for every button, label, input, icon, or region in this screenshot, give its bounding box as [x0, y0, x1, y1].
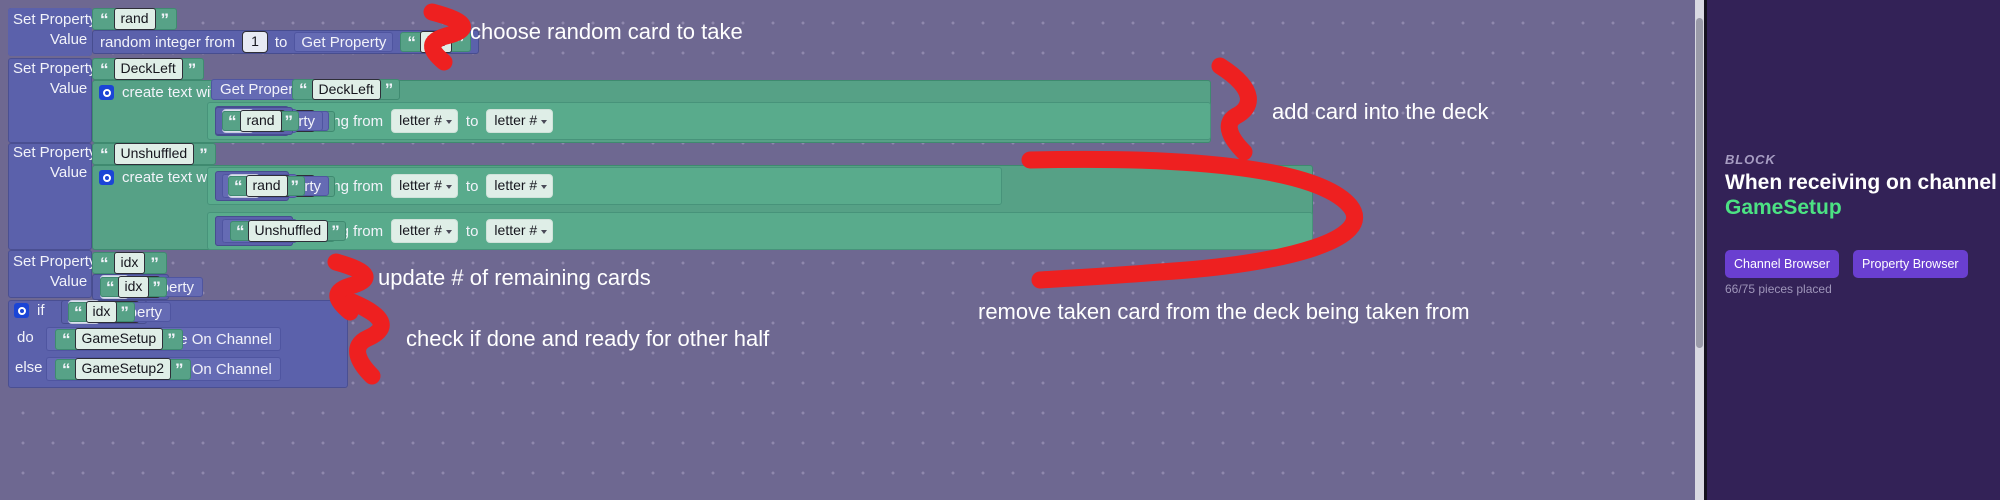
quote-open-icon: “: [299, 81, 308, 98]
text-field-gamesetup[interactable]: GameSetup: [75, 328, 164, 349]
value-label: Value: [50, 165, 87, 180]
create-text-with-header-2[interactable]: create text with: [99, 170, 223, 185]
text-block-idx-var[interactable]: “ idx ”: [92, 252, 167, 274]
chevron-down-icon: [541, 185, 547, 189]
text-block-idx[interactable]: “ idx ”: [68, 302, 135, 322]
substring-row-unshuffled-a-content[interactable]: in text Get Property “ Unshuffled ” get …: [215, 169, 553, 203]
text-field-deckleft-value[interactable]: DeckLeft: [312, 79, 381, 100]
quote-open-icon: “: [62, 331, 71, 348]
quote-open-icon: “: [407, 34, 416, 51]
letter-hash-dropdown-2[interactable]: letter #: [486, 219, 553, 242]
letter-hash-label: letter #: [494, 112, 537, 128]
text-field-rand[interactable]: rand: [240, 110, 282, 131]
letter-hash-label: letter #: [399, 112, 442, 128]
channel-browser-button[interactable]: Channel Browser: [1725, 250, 1839, 278]
quote-close-icon: ”: [456, 34, 465, 51]
text-block-rand-2[interactable]: “ rand ”: [222, 111, 299, 131]
text-field-deckleft[interactable]: DeckLeft: [114, 58, 183, 79]
annotation-label-1: choose random card to take: [470, 19, 743, 45]
quote-close-icon: ”: [188, 61, 197, 78]
letter-hash-dropdown-2[interactable]: letter #: [486, 174, 553, 197]
chevron-down-icon: [446, 185, 452, 189]
set-property-label: Set Property: [13, 254, 96, 269]
else-label: else: [15, 360, 43, 375]
random-integer-from-label: random integer from: [100, 35, 235, 50]
letter-hash-dropdown[interactable]: letter #: [391, 109, 458, 132]
letter-hash-dropdown[interactable]: letter #: [391, 174, 458, 197]
workspace-scrollbar-thumb[interactable]: [1696, 18, 1703, 348]
text-field-idx[interactable]: idx: [118, 276, 150, 297]
quote-open-icon: “: [100, 11, 109, 28]
sidebar-kicker: BLOCK: [1725, 152, 1776, 167]
letter-hash-label: letter #: [399, 177, 442, 193]
quote-open-icon: “: [100, 255, 109, 272]
to-label: to: [466, 179, 479, 194]
quote-close-icon: ”: [285, 113, 294, 130]
create-text-with-header[interactable]: create text with: [99, 85, 223, 100]
quote-open-icon: “: [100, 146, 109, 163]
value-label: Value: [50, 32, 87, 47]
chevron-down-icon: [446, 230, 452, 234]
quote-close-icon: ”: [175, 361, 184, 378]
get-property-block[interactable]: Get Property: [294, 32, 393, 52]
if-label: if: [37, 303, 45, 318]
text-field-unshuffled-var[interactable]: Unshuffled: [114, 143, 195, 164]
quote-close-icon: ”: [291, 178, 300, 195]
value-label: Value: [50, 274, 87, 289]
block-info-sidebar: BLOCK When receiving on channel GameSetu…: [1704, 0, 2000, 500]
annotation-label-2: add card into the deck: [1272, 99, 1488, 125]
quote-close-icon: ”: [152, 279, 161, 296]
text-field-unshuffled-2[interactable]: Unshuffled: [248, 220, 329, 241]
chevron-down-icon: [446, 120, 452, 124]
quote-close-icon: ”: [167, 331, 176, 348]
letter-hash-label: letter #: [494, 177, 537, 193]
quote-close-icon: ”: [120, 304, 129, 321]
quote-open-icon: “: [74, 304, 83, 321]
text-block-deckleft-value[interactable]: “ DeckLeft ”: [292, 79, 400, 100]
get-property-label: Get Property: [301, 35, 386, 50]
to-label: to: [275, 35, 288, 50]
quote-open-icon: “: [236, 223, 245, 240]
math-multiply-block[interactable]: Get Property “ rand ” × 2: [222, 174, 297, 198]
workspace-scrollbar[interactable]: [1695, 0, 1704, 500]
quote-close-icon: ”: [161, 11, 170, 28]
substring-row-deckleft-content[interactable]: in text Get Property “ Unshuffled ” get …: [215, 104, 553, 138]
text-field-rand[interactable]: rand: [246, 175, 288, 196]
to-label: to: [466, 114, 479, 129]
set-property-label: Set Property: [13, 145, 96, 160]
number-field-from[interactable]: 1: [242, 31, 268, 52]
text-block-unshuffled-2[interactable]: “ Unshuffled ”: [230, 221, 346, 241]
blocks-workspace[interactable]: Set Property Value “ rand ” random integ…: [0, 0, 1704, 500]
text-field-rand[interactable]: rand: [114, 8, 156, 29]
set-property-label: Set Property: [13, 61, 96, 76]
quote-close-icon: ”: [150, 255, 159, 272]
property-browser-button[interactable]: Property Browser: [1853, 250, 1968, 278]
math-minus-block-idx[interactable]: Get Property “ idx ” - 1: [92, 274, 169, 300]
quote-close-icon: ”: [331, 223, 340, 240]
gear-icon[interactable]: [99, 170, 114, 185]
comparison-block[interactable]: Get Property “ idx ” > 26: [61, 300, 147, 324]
random-integer-block[interactable]: random integer from 1 to Get Property “ …: [92, 30, 479, 54]
sidebar-block-title: When receiving on channel: [1725, 170, 2000, 197]
app-root: Set Property Value “ rand ” random integ…: [0, 0, 2000, 500]
math-plus-block-2[interactable]: length of Get Property “ Unshuffled ” + …: [215, 216, 293, 246]
quote-open-icon: “: [62, 361, 71, 378]
text-field-idx[interactable]: idx: [86, 301, 118, 322]
annotation-label-5: remove taken card from the deck being ta…: [978, 299, 1470, 325]
text-block-idx[interactable]: “ idx ”: [100, 277, 167, 297]
value-label: Value: [50, 81, 87, 96]
create-text-with-label: create text with: [122, 85, 223, 100]
annotation-overlay: [0, 0, 1704, 500]
broadcast-message-block[interactable]: Broadcast Message On Channel “ GameSetup…: [46, 327, 281, 351]
quote-open-icon: “: [106, 279, 115, 296]
gear-icon[interactable]: [99, 85, 114, 100]
substring-row-unshuffled-b-content[interactable]: in text Get Property “ Unshuffled ” get …: [215, 214, 553, 248]
if-header[interactable]: if: [14, 303, 45, 318]
text-block-deckleft[interactable]: “ DeckLeft ”: [92, 58, 204, 80]
text-block-gamesetup[interactable]: “ GameSetup ”: [55, 329, 183, 350]
quote-close-icon: ”: [385, 81, 394, 98]
letter-hash-dropdown-2[interactable]: letter #: [486, 109, 553, 132]
sidebar-block-name: GameSetup: [1725, 196, 1842, 220]
annotation-label-4: check if done and ready for other half: [406, 326, 769, 352]
quote-open-icon: “: [100, 61, 109, 78]
quote-open-icon: “: [228, 113, 237, 130]
chevron-down-icon: [541, 230, 547, 234]
letter-hash-label: letter #: [399, 222, 442, 238]
annotation-stroke-5: [352, 302, 381, 376]
to-label: to: [466, 224, 479, 239]
annotation-label-3: update # of remaining cards: [378, 265, 651, 291]
text-field-idx-var[interactable]: idx: [114, 252, 146, 273]
math-minus-block[interactable]: Get Property “ rand ” × 2 - 2: [215, 171, 289, 201]
text-block-gamesetup2[interactable]: “ GameSetup2 ”: [55, 359, 191, 380]
chevron-down-icon: [541, 120, 547, 124]
pieces-placed-status: 66/75 pieces placed: [1725, 282, 1832, 296]
quote-close-icon: ”: [199, 146, 208, 163]
text-field-gamesetup2[interactable]: GameSetup2: [75, 358, 172, 379]
broadcast-message-block-2[interactable]: Broadcast Message On Channel “ GameSetup…: [46, 357, 281, 381]
text-block-idx[interactable]: “ idx ”: [400, 32, 471, 52]
letter-hash-dropdown[interactable]: letter #: [391, 219, 458, 242]
quote-open-icon: “: [234, 178, 243, 195]
text-block-rand[interactable]: “ rand ”: [92, 8, 177, 30]
annotation-stroke-2: [1220, 66, 1248, 152]
letter-hash-label: letter #: [494, 222, 537, 238]
math-multiply-block-2[interactable]: Get Property “ rand ” × 2: [215, 107, 293, 135]
text-block-rand[interactable]: “ rand ”: [228, 176, 305, 196]
do-label: do: [17, 330, 34, 345]
gear-icon[interactable]: [14, 303, 29, 318]
text-field-idx[interactable]: idx: [420, 31, 452, 52]
text-block-unshuffled-var[interactable]: “ Unshuffled ”: [92, 143, 216, 165]
length-of-block[interactable]: length of Get Property “ Unshuffled ”: [222, 219, 296, 243]
set-property-label: Set Property: [13, 12, 96, 27]
